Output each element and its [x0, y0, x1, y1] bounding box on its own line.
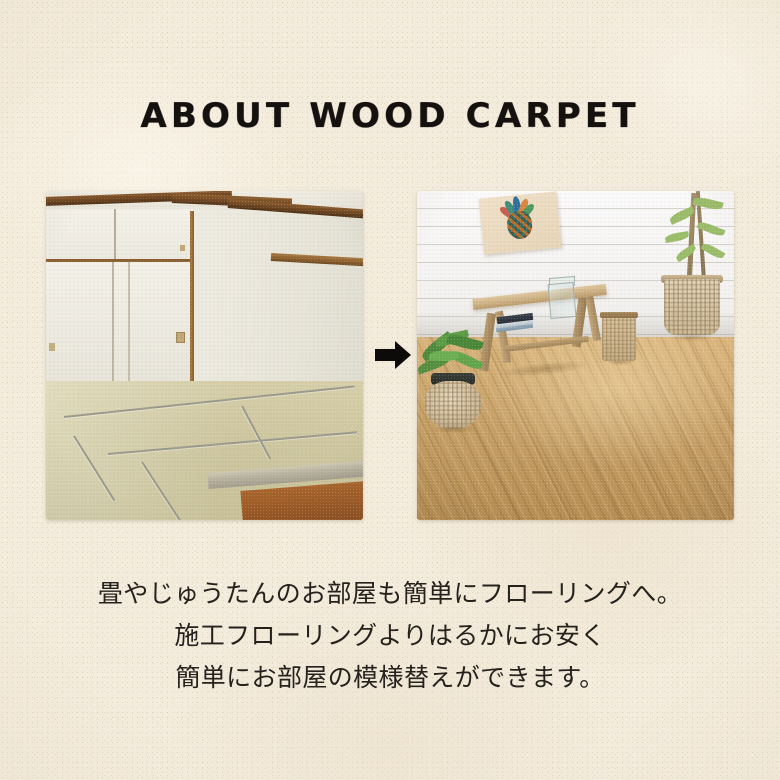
before-photo-scene	[46, 191, 363, 520]
arrow-right-icon	[373, 338, 413, 372]
foreground-planter-shadow	[421, 423, 487, 435]
fusuma-door-handle	[176, 332, 185, 343]
foreground-woven-planter	[425, 381, 481, 429]
right-planter-shadow	[660, 331, 724, 343]
promo-page: ABOUT WOOD CARPET	[0, 0, 780, 780]
caption-block: 畳やじゅうたんのお部屋も簡単にフローリングへ。 施工フローリングよりはるかにお安…	[0, 573, 780, 699]
fusuma-transom-seam	[114, 209, 116, 259]
after-photo-scene	[417, 191, 734, 520]
middle-woven-basket	[602, 315, 636, 361]
fusuma-far-handle	[49, 343, 55, 351]
caption-line-3: 簡単にお部屋の模様替えができます。	[0, 657, 780, 699]
caption-line-2: 施工フローリングよりはるかにお安く	[0, 615, 780, 657]
foreground-plant-leaf-6	[429, 350, 459, 361]
right-woven-planter	[664, 279, 720, 335]
middle-basket-rim	[600, 312, 638, 318]
fusuma-transom-panel	[46, 209, 194, 262]
glass-terrarium	[548, 282, 577, 319]
page-title: ABOUT WOOD CARPET	[0, 96, 780, 136]
pineapple-body	[506, 210, 534, 240]
pineapple-wall-art	[478, 191, 561, 254]
caption-line-1: 畳やじゅうたんのお部屋も簡単にフローリングへ。	[0, 573, 780, 615]
fusuma-transom-handle	[180, 245, 185, 251]
after-photo	[417, 191, 734, 520]
before-photo	[46, 191, 363, 520]
